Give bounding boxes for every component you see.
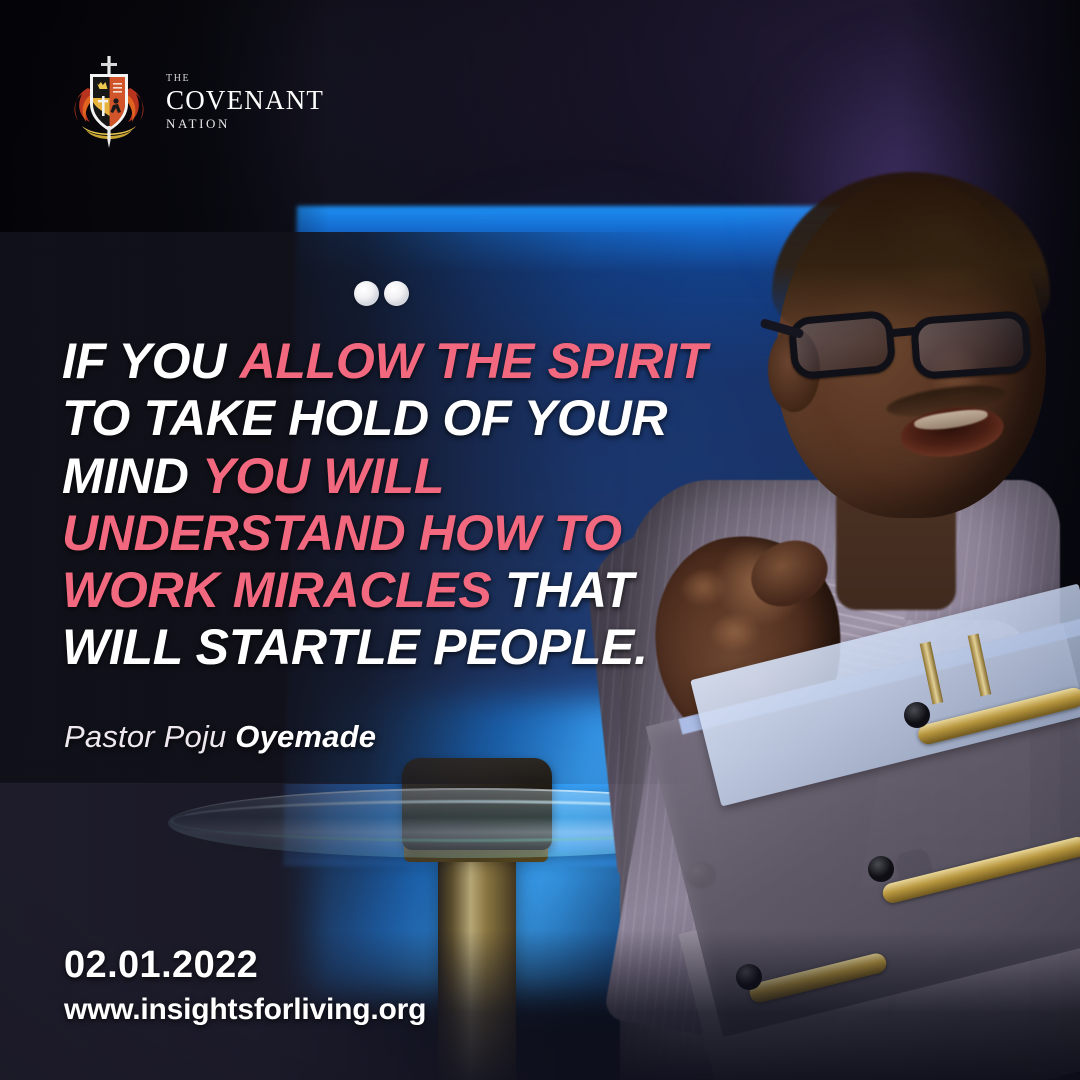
quote-plain-segment: THAT	[491, 562, 633, 618]
quote-line-3: MIND YOU WILL	[62, 448, 702, 505]
speaker-glasses-icon	[790, 310, 1050, 380]
quote-line-5: WORK MIRACLES THAT	[62, 562, 702, 619]
quote-highlight-segment: YOU WILL	[202, 448, 444, 504]
lectern-brass-cap	[868, 856, 894, 882]
quote-graphic-canvas: THE COVENANT NATION IF YOU ALLOW THE SPI…	[0, 0, 1080, 1080]
website-link[interactable]: www.insightsforliving.org	[64, 993, 426, 1027]
quote-dots-decoration	[354, 281, 409, 306]
quote-plain-segment: IF YOU	[62, 333, 240, 389]
quote-text: IF YOU ALLOW THE SPIRITTO TAKE HOLD OF Y…	[62, 333, 702, 677]
covenant-nation-logo[interactable]: THE COVENANT NATION	[66, 54, 324, 150]
quote-highlight-segment: ALLOW THE SPIRIT	[240, 333, 707, 389]
glasses-left-lens	[787, 310, 896, 381]
quote-line-6: WILL STARTLE PEOPLE.	[62, 619, 702, 676]
footer-block: 02.01.2022 www.insightsforliving.org	[64, 944, 426, 1027]
quote-attribution: Pastor Poju Oyemade	[64, 719, 376, 755]
logo-line-the: THE	[166, 74, 324, 84]
dot-icon	[384, 281, 409, 306]
footer-dark-overlay	[0, 783, 560, 1080]
logo-wordmark: THE COVENANT NATION	[166, 74, 324, 130]
date-label: 02.01.2022	[64, 944, 426, 987]
quote-highlight-segment: UNDERSTAND HOW TO	[62, 505, 622, 561]
glasses-right-lens	[910, 310, 1032, 380]
covenant-nation-crest-icon	[66, 54, 152, 150]
quote-line-4: UNDERSTAND HOW TO	[62, 505, 702, 562]
quote-plain-segment: MIND	[62, 448, 202, 504]
dot-icon	[354, 281, 379, 306]
lectern-brass-cap	[904, 702, 930, 728]
quote-plain-segment: WILL STARTLE PEOPLE.	[62, 619, 648, 675]
logo-line-covenant: COVENANT	[166, 87, 324, 114]
quote-highlight-segment: WORK MIRACLES	[62, 562, 491, 618]
quote-plain-segment: TO TAKE HOLD OF YOUR	[62, 390, 667, 446]
quote-line-2: TO TAKE HOLD OF YOUR	[62, 390, 702, 447]
logo-line-nation: NATION	[166, 117, 324, 130]
attribution-surname: Oyemade	[235, 719, 376, 754]
quote-line-1: IF YOU ALLOW THE SPIRIT	[62, 333, 702, 390]
attribution-prefix: Pastor Poju	[64, 719, 235, 754]
